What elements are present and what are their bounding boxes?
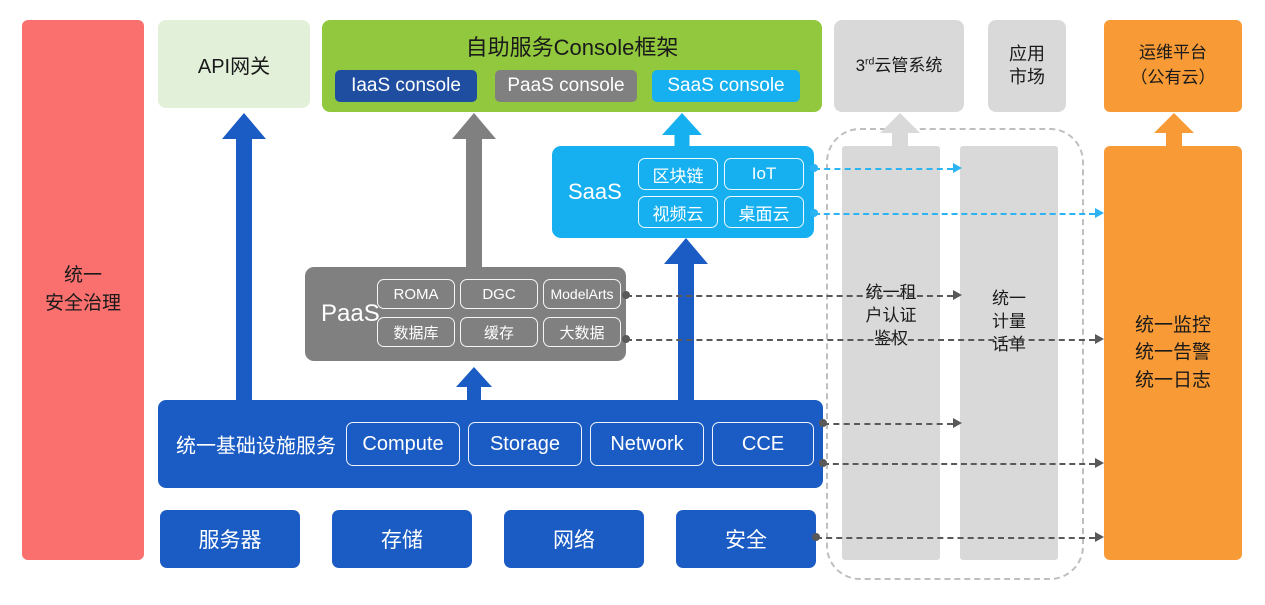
unified-ops-label: 统一监控 统一告警 统一日志 xyxy=(1135,312,1211,395)
connector-arrowhead-security-ops xyxy=(1095,532,1104,542)
saas-tag-desktop-cloud[interactable]: 桌面云 xyxy=(724,196,804,228)
paas-tag-cache[interactable]: 缓存 xyxy=(460,317,538,347)
connector-arrowhead-saas-auth xyxy=(953,163,962,173)
third-party-cloud-mgmt-box[interactable]: 3rd云管系统 xyxy=(834,20,964,112)
arrow-saas-to-console xyxy=(662,113,702,151)
arrow-infra-to-saas xyxy=(664,238,708,402)
saas-console-chip[interactable]: SaaS console xyxy=(652,70,800,102)
shared-column-auth xyxy=(842,146,940,560)
infra-tag-storage[interactable]: Storage xyxy=(468,422,582,466)
arrow-infra-to-paas xyxy=(456,367,492,403)
ops-platform-label: 运维平台 （公有云） xyxy=(1131,41,1216,90)
connector-arrowhead-infra-ops xyxy=(1095,458,1104,468)
resource-box-storage[interactable]: 存储 xyxy=(332,510,472,568)
saas-block: SaaS 区块链 IoT 视频云 桌面云 xyxy=(552,146,814,238)
paas-tag-bigdata[interactable]: 大数据 xyxy=(543,317,621,347)
infra-tag-network[interactable]: Network xyxy=(590,422,704,466)
unified-infrastructure-label: 统一基础设施服务 xyxy=(176,430,336,459)
arrow-paas-to-console xyxy=(452,113,496,271)
connector-security-to-ops xyxy=(816,537,1095,539)
unified-security-governance-label: 统一 安全治理 xyxy=(45,262,121,317)
paas-tag-modelarts[interactable]: ModelArts xyxy=(543,279,621,309)
app-market-box[interactable]: 应用 市场 xyxy=(988,20,1066,112)
connector-paas-to-ops xyxy=(626,339,1095,341)
infra-tag-compute[interactable]: Compute xyxy=(346,422,460,466)
paas-label: PaaS xyxy=(321,300,380,328)
connector-arrowhead-paas-ops xyxy=(1095,334,1104,344)
paas-tag-dgc[interactable]: DGC xyxy=(460,279,538,309)
arrow-infra-to-api-gateway xyxy=(222,113,266,403)
api-gateway-box[interactable]: API网关 xyxy=(158,20,310,108)
connector-arrowhead-paas-metering xyxy=(953,290,962,300)
third-party-cloud-mgmt-label: 3rd云管系统 xyxy=(856,55,943,77)
ops-platform-box[interactable]: 运维平台 （公有云） xyxy=(1104,20,1242,112)
paas-console-chip[interactable]: PaaS console xyxy=(495,70,637,102)
unified-security-governance-panel: 统一 安全治理 xyxy=(22,20,144,560)
unified-ops-panel: 统一监控 统一告警 统一日志 xyxy=(1104,146,1242,560)
resource-box-server[interactable]: 服务器 xyxy=(160,510,300,568)
shared-column-metering-label: 统一 计量 话单 xyxy=(960,288,1058,357)
paas-tag-roma[interactable]: ROMA xyxy=(377,279,455,309)
api-gateway-label: API网关 xyxy=(198,50,270,79)
paas-tag-database[interactable]: 数据库 xyxy=(377,317,455,347)
connector-arrowhead-saas-ops xyxy=(1095,208,1104,218)
resource-box-network[interactable]: 网络 xyxy=(504,510,644,568)
saas-label: SaaS xyxy=(568,179,622,205)
connector-paas-to-metering xyxy=(626,295,953,297)
arrow-to-ops-platform xyxy=(1154,113,1194,147)
connector-infra-to-metering xyxy=(823,423,953,425)
resource-box-security[interactable]: 安全 xyxy=(676,510,816,568)
iaas-console-chip[interactable]: IaaS console xyxy=(335,70,477,102)
unified-infrastructure-bar: 统一基础设施服务 Compute Storage Network CCE xyxy=(158,400,823,488)
connector-saas-to-ops xyxy=(814,213,1095,215)
infra-tag-cce[interactable]: CCE xyxy=(712,422,814,466)
saas-tag-blockchain[interactable]: 区块链 xyxy=(638,158,718,190)
app-market-label: 应用 市场 xyxy=(1009,43,1045,90)
architecture-diagram: 统一 安全治理 API网关 自助服务Console框架 IaaS console… xyxy=(0,0,1265,605)
saas-tag-video-cloud[interactable]: 视频云 xyxy=(638,196,718,228)
arrow-to-third-party-cloud-mgmt xyxy=(880,113,920,147)
console-framework-title: 自助服务Console框架 xyxy=(322,30,822,62)
self-service-console-framework: 自助服务Console框架 IaaS console PaaS console … xyxy=(322,20,822,112)
connector-saas-to-auth xyxy=(814,168,953,170)
connector-infra-to-ops xyxy=(823,463,1095,465)
paas-block: PaaS ROMA DGC ModelArts 数据库 缓存 大数据 xyxy=(305,267,626,361)
saas-tag-iot[interactable]: IoT xyxy=(724,158,804,190)
connector-arrowhead-infra-metering xyxy=(953,418,962,428)
